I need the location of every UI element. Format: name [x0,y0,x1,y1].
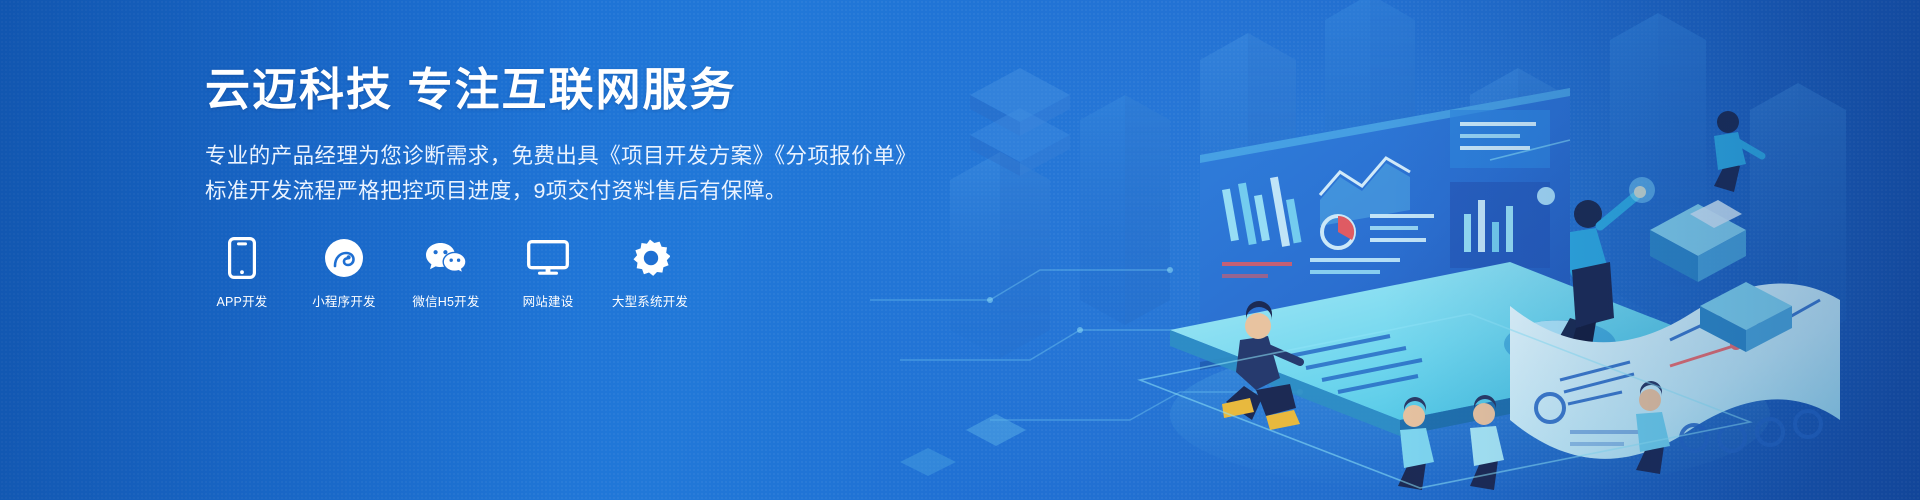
hero-subtitle: 专业的产品经理为您诊断需求，免费出具《项目开发方案》《分项报价单》 标准开发流程… [205,139,965,209]
service-item-app[interactable]: APP开发 [205,237,279,310]
mini-program-icon [324,237,364,279]
service-item-mini-program[interactable]: 小程序开发 [307,237,381,310]
service-label: 微信H5开发 [412,291,479,310]
gear-icon [630,237,670,279]
wechat-icon [424,237,468,279]
hero-content: 云迈科技 专注互联网服务 专业的产品经理为您诊断需求，免费出具《项目开发方案》《… [205,62,965,310]
hero-banner: 云迈科技 专注互联网服务 专业的产品经理为您诊断需求，免费出具《项目开发方案》《… [0,0,1920,500]
subtitle-line-2: 标准开发流程严格把控项目进度，9项交付资料售后有保障。 [205,174,965,209]
service-item-large-system[interactable]: 大型系统开发 [613,237,687,310]
page-title: 云迈科技 专注互联网服务 [205,62,965,118]
service-list: APP开发 小程序开发 [205,237,965,310]
service-label: 大型系统开发 [612,291,688,310]
service-label: 网站建设 [523,291,574,310]
service-label: APP开发 [216,291,267,310]
subtitle-line-1: 专业的产品经理为您诊断需求，免费出具《项目开发方案》《分项报价单》 [205,139,965,174]
service-item-website[interactable]: 网站建设 [511,237,585,310]
mobile-phone-icon [228,237,256,279]
service-item-wechat-h5[interactable]: 微信H5开发 [409,237,483,310]
service-label: 小程序开发 [312,291,376,310]
monitor-icon [527,237,569,279]
isometric-illustration [870,0,1920,500]
